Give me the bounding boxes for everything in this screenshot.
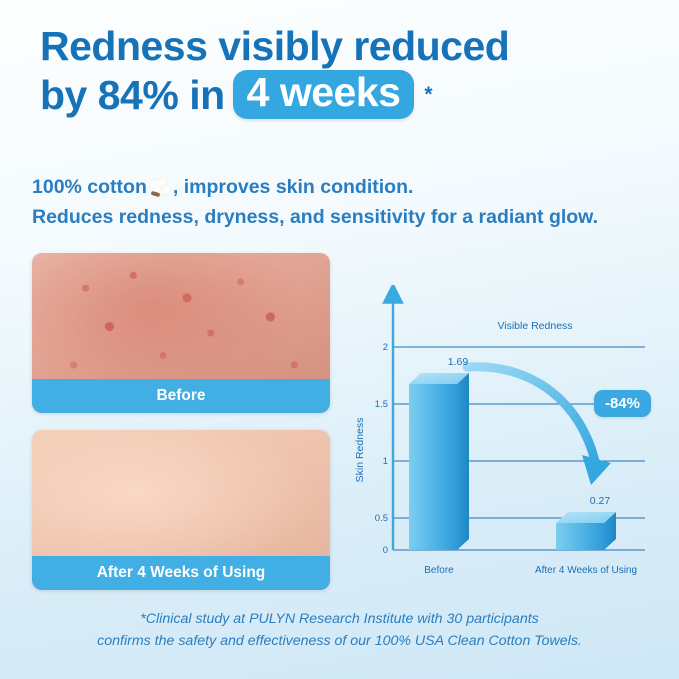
bar-before <box>409 373 469 550</box>
subheadline-line-1: 100% cotton, improves skin condition. <box>32 172 652 202</box>
category-label-after: After 4 Weeks of Using <box>535 565 637 576</box>
page-headline: Redness visibly reduced by 84% in 4 week… <box>40 22 650 119</box>
after-photo: After 4 Weeks of Using <box>32 430 330 590</box>
headline-highlight-pill: 4 weeks <box>233 70 415 119</box>
ytick-0_5: 0.5 <box>375 513 388 524</box>
ytick-0: 0 <box>383 545 388 556</box>
headline-line-1: Redness visibly reduced <box>40 22 650 70</box>
bar-after <box>556 512 616 550</box>
data-label-after: 0.27 <box>590 495 611 507</box>
category-label-before: Before <box>424 565 454 576</box>
footnote-line-2: confirms the safety and effectiveness of… <box>0 630 679 653</box>
reduction-badge: -84% <box>594 390 651 417</box>
chart-title: Visible Redness <box>497 320 572 332</box>
data-label-before: 1.69 <box>448 356 469 368</box>
after-photo-caption: After 4 Weeks of Using <box>32 556 330 590</box>
ytick-1: 1 <box>383 456 388 467</box>
subheadline-line-1-pre: 100% cotton <box>32 176 147 198</box>
ytick-2: 2 <box>383 342 388 353</box>
subheadline: 100% cotton, improves skin condition. Re… <box>32 172 652 232</box>
ytick-1_5: 1.5 <box>375 399 388 410</box>
chart-svg: 2 1.5 1 0.5 0 Skin Redness Visible Redne… <box>345 285 653 585</box>
headline-line-2: by 84% in 4 weeks * <box>40 70 650 119</box>
subheadline-line-1-post: , improves skin condition. <box>173 176 414 198</box>
cotton-boll-icon <box>148 177 172 197</box>
chart-y-axis-title: Skin Redness <box>354 418 366 483</box>
footnote: *Clinical study at PULYN Research Instit… <box>0 608 679 653</box>
before-photo: Before <box>32 253 330 413</box>
redness-bar-chart: 2 1.5 1 0.5 0 Skin Redness Visible Redne… <box>345 285 653 585</box>
footnote-line-1: *Clinical study at PULYN Research Instit… <box>0 608 679 631</box>
decline-arrow-icon <box>467 367 611 485</box>
chart-y-tick-labels: 2 1.5 1 0.5 0 <box>375 342 388 556</box>
before-photo-caption: Before <box>32 379 330 413</box>
headline-line-2-text: by 84% in <box>40 71 225 119</box>
subheadline-line-2: Reduces redness, dryness, and sensitivit… <box>32 202 652 232</box>
headline-asterisk: * <box>424 83 432 108</box>
